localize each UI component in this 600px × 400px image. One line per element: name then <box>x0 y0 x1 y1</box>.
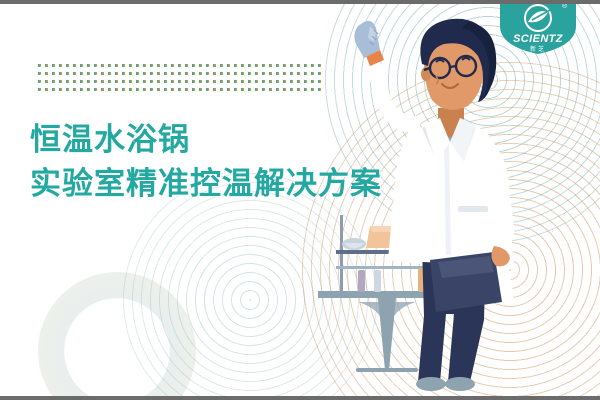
test-tube-violet <box>358 270 365 292</box>
promo-banner: 恒温水浴锅 实验室精准控温解决方案 <box>0 0 600 400</box>
decorative-dot-grid <box>38 64 326 98</box>
soft-gradient-ring-decoration <box>38 272 196 400</box>
shoe-right <box>445 377 475 391</box>
raised-arm-sleeve <box>366 62 422 132</box>
logo-wordmark: SCIENTZ <box>513 33 564 45</box>
top-frame-bar <box>0 0 600 4</box>
scientist-illustration <box>318 10 600 396</box>
bottom-frame-bar <box>0 396 600 400</box>
scientz-logo[interactable]: ® SCIENTZ 新芝 <box>496 0 580 54</box>
shoe-left <box>416 377 446 391</box>
test-tube-gray <box>374 270 381 292</box>
coat-pocket <box>458 206 488 212</box>
logo-chinese-mark: 新芝 <box>530 45 546 53</box>
scientist-figure <box>354 19 514 391</box>
